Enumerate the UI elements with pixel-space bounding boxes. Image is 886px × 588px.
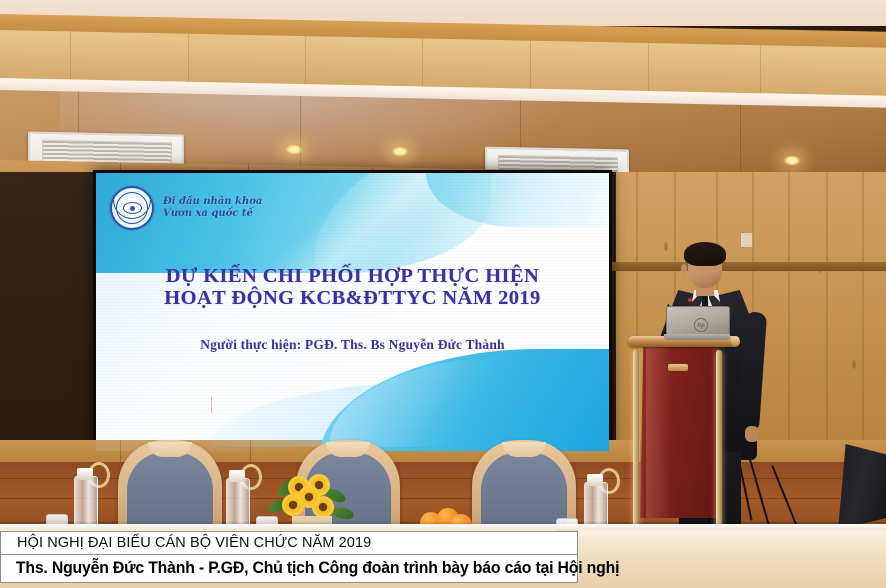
podium-body bbox=[640, 346, 722, 518]
presentation-slide: Đi đầu nhãn khoa Vươn xa quốc tế DỰ KIẾN… bbox=[96, 173, 609, 451]
caption-event-title: HỘI NGHỊ ĐẠI BIỂU CÁN BỘ VIÊN CHỨC NĂM 2… bbox=[1, 532, 577, 555]
sunflower-arrangement bbox=[268, 474, 360, 530]
stage-monitor-speaker bbox=[838, 444, 886, 530]
ceiling-downlight-2 bbox=[391, 146, 409, 157]
conference-photo: Đi đầu nhãn khoa Vươn xa quốc tế DỰ KIẾN… bbox=[0, 0, 886, 588]
laptop-base bbox=[664, 334, 730, 340]
lectern-podium bbox=[628, 336, 738, 542]
slide-text-block: DỰ KIẾN CHI PHỐI HỢP THỰC HIỆN HOẠT ĐỘNG… bbox=[96, 265, 609, 353]
slide-title-line-1: DỰ KIẾN CHI PHỐI HỢP THỰC HIỆN bbox=[96, 265, 609, 287]
caption-bar: HỘI NGHỊ ĐẠI BIỂU CÁN BỘ VIÊN CHỨC NĂM 2… bbox=[0, 531, 578, 583]
slide-cursor-mark bbox=[211, 397, 212, 413]
podium-edge-light-left bbox=[633, 350, 639, 528]
podium-name-plate bbox=[668, 364, 688, 371]
logo-slogan: Đi đầu nhãn khoa Vươn xa quốc tế bbox=[163, 196, 262, 220]
sunflower bbox=[298, 486, 320, 508]
ceiling-downlight-5 bbox=[783, 155, 801, 166]
lapel-microphone-icon bbox=[688, 298, 692, 302]
speaker-hand bbox=[745, 426, 759, 442]
chair-left bbox=[118, 440, 222, 532]
hp-laptop: hp bbox=[664, 306, 730, 340]
table-front-edge bbox=[0, 524, 886, 530]
ceiling-downlight-1 bbox=[285, 144, 303, 155]
caption-description: Ths. Nguyễn Đức Thành - P.GĐ, Chủ tịch C… bbox=[1, 555, 537, 582]
speaker-hair bbox=[684, 242, 726, 266]
slide-title-line-2: HOẠT ĐỘNG KCB&ĐTTYC NĂM 2019 bbox=[96, 287, 609, 309]
eye-logo-icon bbox=[110, 186, 154, 230]
podium-edge-light-right bbox=[716, 350, 722, 528]
projection-screen: Đi đầu nhãn khoa Vươn xa quốc tế DỰ KIẾN… bbox=[93, 170, 612, 454]
hospital-logo: Đi đầu nhãn khoa Vươn xa quốc tế bbox=[110, 186, 262, 230]
speaker-ear bbox=[681, 264, 687, 274]
laptop-lid: hp bbox=[666, 306, 730, 337]
slide-subtitle: Người thực hiện: PGĐ. Ths. Bs Nguyễn Đức… bbox=[96, 337, 609, 353]
hp-logo-icon: hp bbox=[694, 318, 708, 332]
